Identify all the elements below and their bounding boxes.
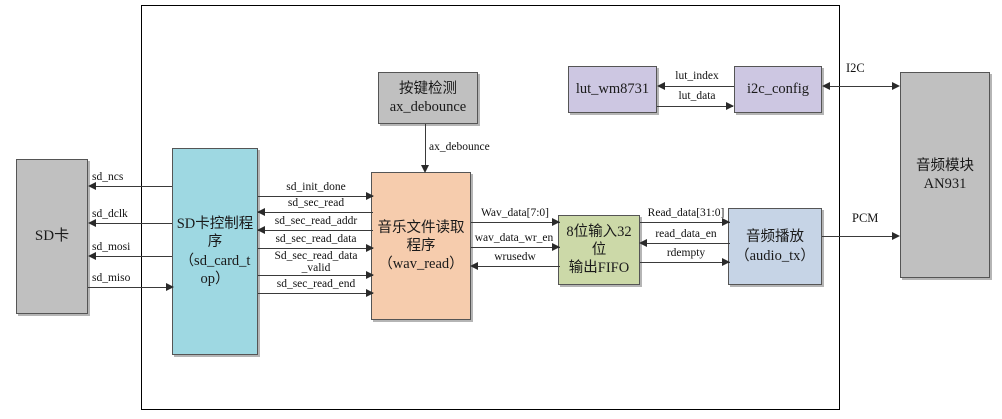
wire-ax-debounce [425, 124, 426, 168]
arrowhead-ax-debounce [421, 165, 429, 173]
block-fifo[interactable]: 8位输入32位 输出FIFO [558, 215, 640, 285]
label-read-data-en: read_data_en [640, 228, 732, 240]
label-wav-data-wr-en: wav_data_wr_en [466, 232, 562, 244]
label-sd-sec-read-addr: sd_sec_read_addr [259, 215, 373, 227]
label-read-data: Read_data[31:0] [640, 207, 732, 219]
block-audio-tx-label: 音频播放 （audio_tx） [732, 228, 818, 264]
block-sd-card-label: SD卡 [32, 227, 72, 246]
wire-sd-sec-read-data [258, 248, 373, 249]
block-wav-read[interactable]: 音乐文件读取 程序 （wav_read） [371, 172, 471, 320]
label-sd-ncs: sd_ncs [92, 171, 123, 183]
block-i2c-config[interactable]: i2c_config [734, 66, 822, 113]
wire-sd-sec-read-end [258, 293, 373, 294]
block-fifo-label: 8位输入32位 输出FIFO [559, 223, 639, 277]
arrowhead-lut-data [726, 102, 734, 110]
wire-lut-data [657, 106, 733, 107]
label-wrusedw: wrusedw [469, 251, 561, 263]
block-sd-card-top-label: SD卡控制程序 （sd_card_t op） [173, 215, 257, 288]
block-audio-module-an931[interactable]: 音频模块 AN931 [900, 72, 990, 278]
block-wav-read-label: 音乐文件读取 程序 （wav_read） [375, 219, 468, 273]
label-sd-init-done: sd_init_done [260, 181, 372, 193]
wire-rdempty [640, 262, 730, 263]
wire-read-data-en [642, 243, 730, 244]
label-sd-miso: sd_miso [92, 272, 130, 284]
label-sd-sec-read-end: sd_sec_read_end [259, 278, 373, 290]
wire-lut-index [660, 86, 734, 87]
label-pcm: PCM [852, 212, 878, 225]
label-sd-sec-read: sd_sec_read [260, 197, 372, 209]
arrowhead-i2c-to-config [822, 82, 830, 90]
block-sd-card[interactable]: SD卡 [16, 159, 88, 314]
label-sd-mosi: sd_mosi [92, 241, 130, 253]
wire-wrusedw [473, 266, 560, 267]
wire-sd-sec-read-data-valid [258, 275, 373, 276]
wire-sd-sec-read-addr [258, 230, 373, 231]
block-sd-card-top[interactable]: SD卡控制程序 （sd_card_t op） [172, 148, 258, 355]
block-audio-tx[interactable]: 音频播放 （audio_tx） [728, 208, 822, 285]
label-rdempty: rdempty [640, 247, 732, 259]
wire-i2c [824, 86, 898, 87]
label-i2c: I2C [846, 62, 865, 75]
block-ax-debounce-label: 按键检测 ax_debounce [387, 80, 470, 116]
wire-wav-data-wr-en [471, 247, 560, 248]
arrowhead-sd-miso [166, 283, 174, 291]
arrowhead-pcm [892, 232, 900, 240]
wire-pcm [822, 236, 898, 237]
label-ax-debounce: ax_debounce [429, 141, 490, 153]
wire-sd-miso [88, 287, 170, 288]
block-diagram-canvas: SD卡 SD卡控制程序 （sd_card_t op） 按键检测 ax_debou… [0, 0, 1002, 419]
wire-sd-sec-read [258, 212, 373, 213]
wire-read-data [640, 222, 730, 223]
block-i2c-config-label: i2c_config [744, 80, 812, 98]
arrowhead-i2c-to-module [892, 82, 900, 90]
label-wav-data: Wav_data[7:0] [469, 207, 561, 219]
label-sd-sec-read-data: sd_sec_read_data [259, 233, 373, 245]
wire-sd-dclk [90, 223, 172, 224]
block-lut-wm8731-label: lut_wm8731 [573, 80, 652, 98]
label-sd-sec-read-data-valid: Sd_sec_read_data _valid [259, 250, 373, 274]
label-lut-index: lut_index [657, 70, 737, 82]
wire-sd-ncs [90, 186, 172, 187]
arrowhead-lut-index [657, 82, 665, 90]
block-audio-module-label: 音频模块 AN931 [913, 157, 977, 193]
label-lut-data: lut_data [657, 90, 737, 102]
wire-wav-data [471, 222, 560, 223]
wire-sd-mosi [90, 256, 172, 257]
label-sd-dclk: sd_dclk [92, 208, 128, 220]
block-lut-wm8731[interactable]: lut_wm8731 [568, 66, 657, 113]
block-ax-debounce[interactable]: 按键检测 ax_debounce [378, 72, 478, 124]
